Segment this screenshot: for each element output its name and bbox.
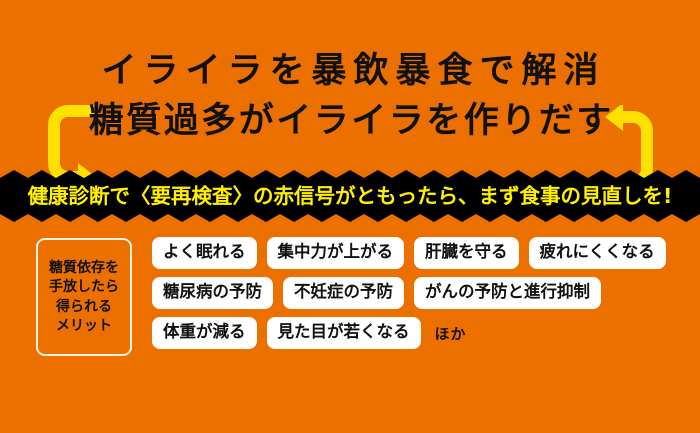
benefit-pill-rows: よく眠れる 集中力が上がる 肝臓を守る 疲れにくくなる 糖尿病の予防 不妊症の予… — [152, 236, 692, 356]
alert-banner: 健康診断で〈要再検査〉の赤信号がともったら、まず食事の見直しを! — [0, 168, 700, 224]
benefit-pill: 体重が減る — [152, 317, 257, 349]
benefit-row-2: 糖尿病の予防 不妊症の予防 がんの予防と進行抑制 — [152, 276, 692, 310]
benefit-pill: よく眠れる — [152, 237, 257, 269]
benefit-row-3: 体重が減る 見た目が若くなる ほか — [152, 316, 692, 350]
headline-block: イライラを暴飲暴食で解消 糖質過多がイライラを作りだす — [0, 48, 700, 160]
benefits-trailing-note: ほか — [431, 323, 467, 344]
benefit-pill: 不妊症の予防 — [283, 277, 404, 309]
benefit-pill: 疲れにくくなる — [529, 237, 666, 269]
caption-line-2: 手放したら — [49, 278, 119, 296]
caption-line-1: 糖質依存を — [49, 259, 119, 277]
caption-line-4: メリット — [56, 317, 112, 335]
benefits-caption-box: 糖質依存を 手放したら 得られる メリット — [36, 238, 132, 356]
benefits-section: 糖質依存を 手放したら 得られる メリット よく眠れる 集中力が上がる 肝臓を守… — [0, 236, 700, 362]
benefit-row-1: よく眠れる 集中力が上がる 肝臓を守る 疲れにくくなる — [152, 236, 692, 270]
benefit-pill: 肝臓を守る — [414, 237, 519, 269]
alert-banner-text: 健康診断で〈要再検査〉の赤信号がともったら、まず食事の見直しを! — [0, 168, 700, 224]
headline-line-2: 糖質過多がイライラを作りだす — [0, 104, 700, 139]
caption-line-3: 得られる — [56, 298, 112, 316]
benefit-pill: 見た目が若くなる — [267, 317, 421, 349]
benefit-pill: 糖尿病の予防 — [152, 277, 273, 309]
benefit-pill: がんの予防と進行抑制 — [414, 277, 601, 309]
infographic-canvas: イライラを暴飲暴食で解消 糖質過多がイライラを作りだす 健康診断で〈要再検査〉の… — [0, 0, 700, 433]
headline-line-1: イライラを暴飲暴食で解消 — [0, 54, 700, 89]
benefit-pill: 集中力が上がる — [267, 237, 405, 269]
